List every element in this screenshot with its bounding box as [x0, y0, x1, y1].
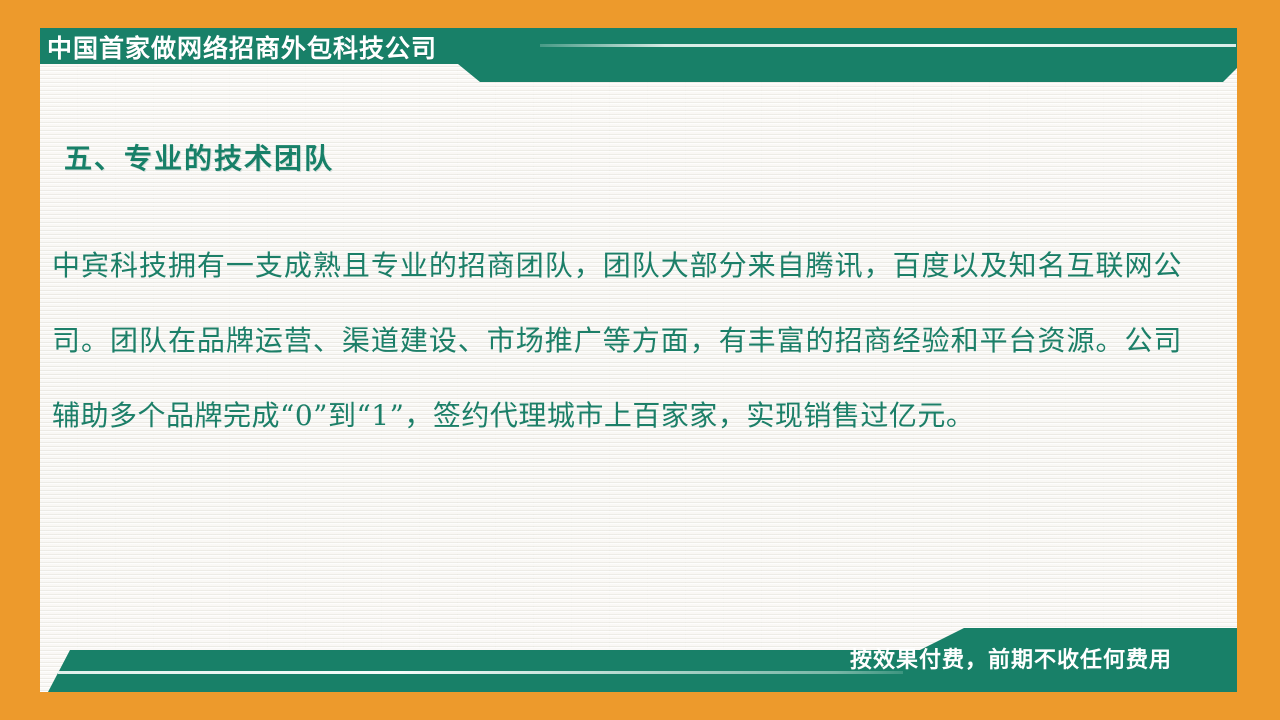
- body-paragraph: 中宾科技拥有一支成熟且专业的招商团队，团队大部分来自腾讯，百度以及知名互联网公司…: [52, 228, 1182, 453]
- header-title: 中国首家做网络招商外包科技公司: [47, 33, 437, 65]
- slide-root: 中国首家做网络招商外包科技公司 五、专业的技术团队 中宾科技拥有一支成熟且专业的…: [0, 0, 1280, 720]
- footer-accent-line: [58, 671, 903, 674]
- header-accent-line: [540, 44, 1236, 47]
- body-copy: 中宾科技拥有一支成熟且专业的招商团队，团队大部分来自腾讯，百度以及知名互联网公司…: [52, 228, 1182, 453]
- footer-tagline: 按效果付费，前期不收任何费用: [850, 647, 1172, 675]
- section-heading: 五、专业的技术团队: [64, 137, 334, 177]
